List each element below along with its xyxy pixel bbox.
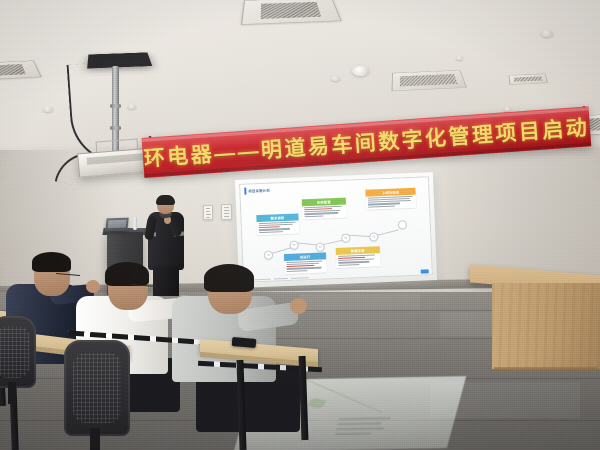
chair-backrest bbox=[64, 340, 130, 436]
flow-node-marker: 01 bbox=[264, 251, 273, 260]
flow-node-marker: 04 bbox=[341, 233, 350, 242]
smoke-detector bbox=[504, 107, 511, 111]
slide-node-body bbox=[257, 220, 300, 235]
wall-notice bbox=[203, 205, 213, 220]
slide-node-body bbox=[366, 194, 417, 210]
wooden-desk-foot bbox=[494, 367, 598, 371]
slide-badge bbox=[421, 269, 429, 273]
smoke-detector bbox=[43, 106, 53, 112]
linear-vent bbox=[391, 70, 467, 91]
chair-backrest bbox=[0, 316, 36, 388]
water-bottle bbox=[133, 217, 137, 230]
smoke-detector bbox=[331, 76, 340, 81]
smoke-detector bbox=[128, 104, 136, 109]
slide-node-body bbox=[336, 253, 381, 268]
wooden-desk-body bbox=[492, 283, 600, 369]
linear-vent bbox=[509, 74, 548, 85]
office-chair bbox=[64, 340, 130, 450]
smoke-detector bbox=[541, 30, 553, 37]
ceiling-light bbox=[352, 66, 369, 76]
slide-node-box: 系统配置 bbox=[302, 198, 347, 220]
slide-canvas: 01 02 03 04 05 需求调研 bbox=[239, 186, 432, 276]
attendee-hair bbox=[105, 262, 149, 286]
slide-node-box: 数据迁移 bbox=[336, 246, 381, 268]
smoke-detector bbox=[456, 56, 463, 60]
chair-post bbox=[90, 428, 100, 450]
chair-post bbox=[8, 382, 16, 404]
attendee-hair bbox=[204, 264, 254, 292]
flow-node-marker: 05 bbox=[369, 232, 378, 241]
attendee-hand bbox=[290, 298, 307, 314]
ac-cassette-vent bbox=[241, 0, 342, 25]
office-chair bbox=[0, 316, 36, 402]
flow-node-marker bbox=[398, 220, 407, 229]
slide-node-box: 需求调研 bbox=[256, 213, 299, 235]
attendee-hair bbox=[32, 252, 71, 272]
slide-node-box: 上线及验收 bbox=[365, 188, 416, 210]
flow-node-marker: 03 bbox=[315, 242, 324, 251]
flow-node-marker: 02 bbox=[289, 241, 298, 250]
laptop bbox=[105, 218, 128, 232]
slide-node-body bbox=[302, 204, 347, 219]
meeting-room-photo: 金环电器——明道易车间数字化管理项目启动会 项目实施计划 01 02 bbox=[0, 0, 600, 450]
presenter-hair bbox=[156, 195, 175, 205]
